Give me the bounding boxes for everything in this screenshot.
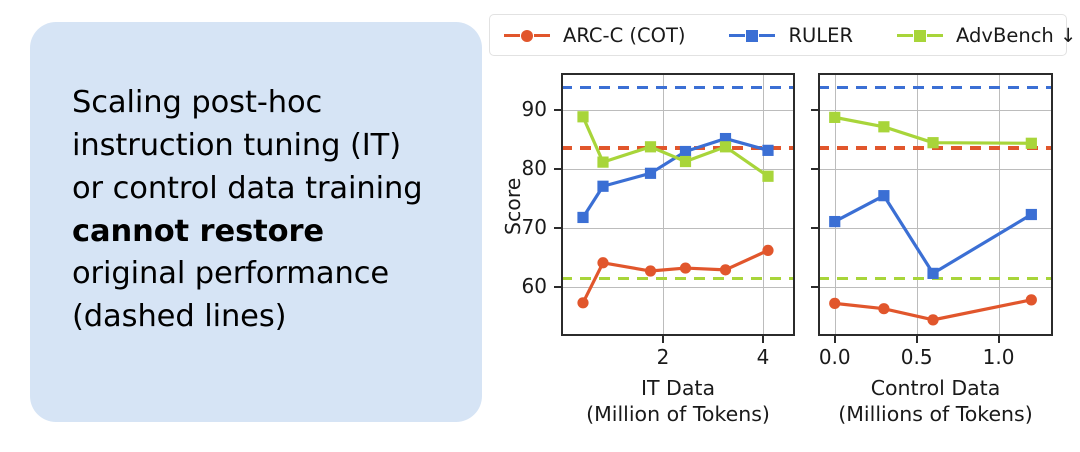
callout-text: Scaling post-hocinstruction tuning (IT)o… xyxy=(72,82,442,339)
y-tick-mark xyxy=(811,109,818,111)
x-tick-label: 0.5 xyxy=(887,345,947,369)
charts-container: 6070809024ScoreIT Data(Million of Tokens… xyxy=(489,60,1069,452)
chart-panel-right: 0.00.51.0Control Data(Millions of Tokens… xyxy=(489,60,1069,452)
y-tick-mark xyxy=(811,227,818,229)
legend-label: RULER xyxy=(788,24,853,47)
callout-line: original performance xyxy=(72,253,442,296)
data-point-marker xyxy=(927,268,938,279)
x-tick-mark xyxy=(916,336,918,343)
x-tick-label: 1.0 xyxy=(969,345,1029,369)
x-axis-label-units: (Millions of Tokens) xyxy=(788,401,1080,427)
x-axis-label: Control Data(Millions of Tokens) xyxy=(788,375,1080,427)
series-layer xyxy=(820,75,1051,334)
x-tick-label: 0.0 xyxy=(805,345,865,369)
callout-line: (dashed lines) xyxy=(72,296,442,339)
data-point-marker xyxy=(878,190,889,201)
x-tick-mark xyxy=(998,336,1000,343)
legend-line-square-icon xyxy=(729,26,775,44)
legend-item[interactable]: AdvBench ↓ xyxy=(897,15,1076,55)
data-point-marker xyxy=(878,121,889,132)
plot-area xyxy=(818,73,1053,336)
data-point-marker xyxy=(829,216,840,227)
data-point-marker xyxy=(1026,138,1037,149)
legend-label: ARC-C (COT) xyxy=(563,24,685,47)
callout-line: instruction tuning (IT) xyxy=(72,125,442,168)
legend-line-circle-icon xyxy=(504,26,550,44)
x-tick-mark xyxy=(834,336,836,343)
callout-line: Scaling post-hoc xyxy=(72,82,442,125)
legend-line-square-icon xyxy=(897,26,943,44)
callout-line: or control data training xyxy=(72,168,442,211)
data-point-marker xyxy=(878,303,889,314)
chart-legend: ARC-C (COT)RULERAdvBench ↓ xyxy=(489,14,1067,56)
y-tick-mark xyxy=(811,168,818,170)
data-point-marker xyxy=(829,112,840,123)
legend-item[interactable]: ARC-C (COT) xyxy=(504,15,685,55)
y-tick-mark xyxy=(811,286,818,288)
figure-root: Scaling post-hocinstruction tuning (IT)o… xyxy=(0,0,1080,452)
legend-item[interactable]: RULER xyxy=(729,15,853,55)
callout-line: cannot restore xyxy=(72,211,442,254)
x-axis-label-primary: Control Data xyxy=(871,376,1001,400)
data-point-marker xyxy=(927,137,938,148)
data-point-marker xyxy=(1026,209,1037,220)
callout-panel: Scaling post-hocinstruction tuning (IT)o… xyxy=(30,22,482,422)
legend-label: AdvBench ↓ xyxy=(956,24,1076,47)
data-point-marker xyxy=(927,314,938,325)
data-point-marker xyxy=(829,298,840,309)
data-point-marker xyxy=(1026,294,1037,305)
series-line xyxy=(835,196,1032,274)
